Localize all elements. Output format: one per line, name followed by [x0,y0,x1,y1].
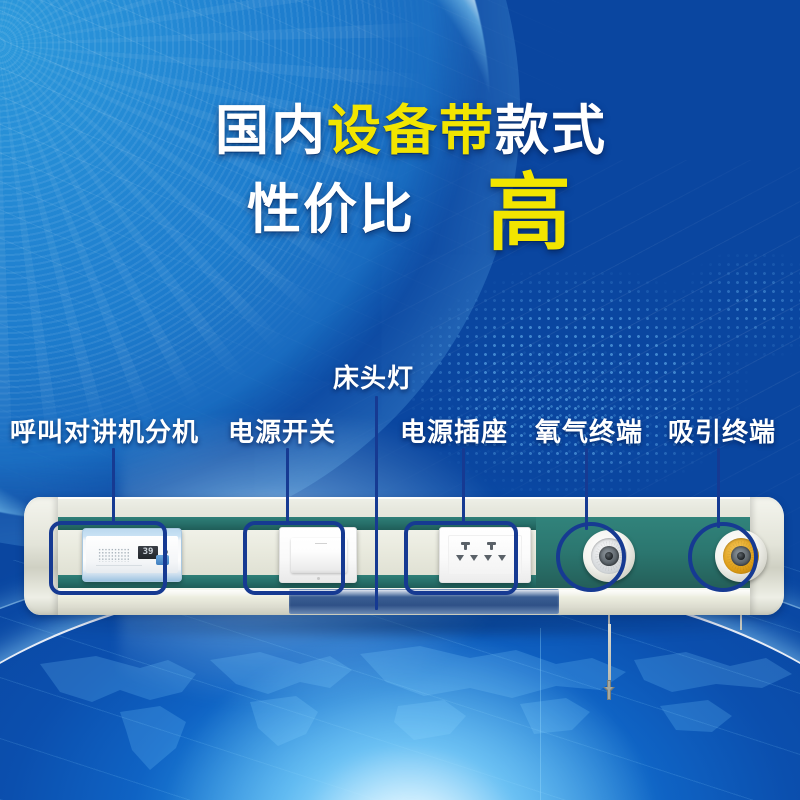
leader-line-intercom [112,448,115,524]
leader-line-suction-terminal [717,448,720,528]
callout-label-intercom: 呼叫对讲机分机 [10,412,199,449]
leader-line-power-switch [286,448,289,524]
pull-cord-handle-icon[interactable] [598,680,620,704]
leader-line-power-socket [462,448,465,524]
callout-label-bed-lamp: 床头灯 [333,358,414,395]
callout-label-oxygen-terminal: 氧气终端 [535,412,643,449]
leader-line-oxygen-terminal [585,448,588,530]
callout-label-power-switch: 电源开关 [228,412,336,449]
callout-label-power-socket: 电源插座 [400,412,508,449]
callout-labels: 呼叫对讲机分机 电源开关 床头灯 电源插座 氧气终端 吸引终端 [0,0,800,800]
leader-line-bed-lamp [375,396,378,610]
callout-label-suction-terminal: 吸引终端 [668,412,776,449]
pull-cord [608,624,611,686]
